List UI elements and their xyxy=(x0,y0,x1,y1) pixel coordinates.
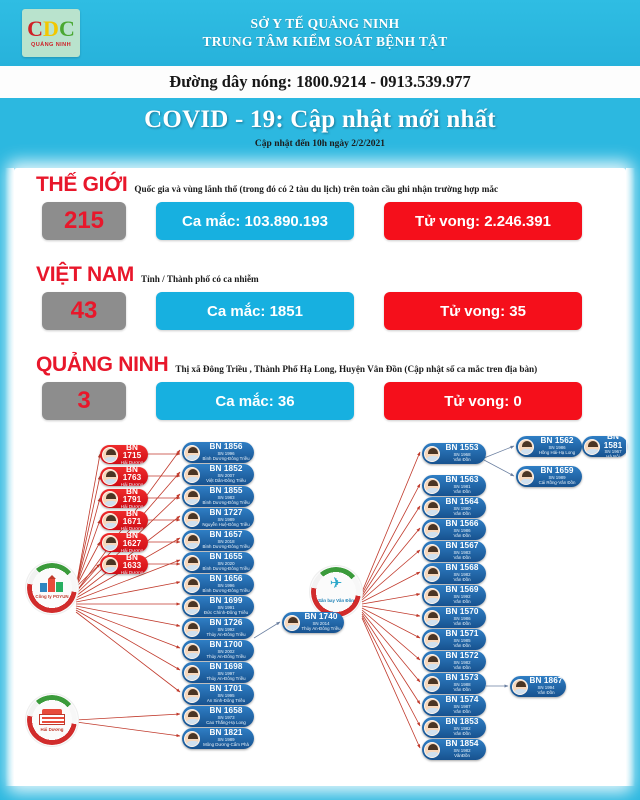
cases-badge-vietnam: Ca mắc: 1851 xyxy=(156,292,354,330)
node-place-label: Cái Rồng-Vân Đồn xyxy=(535,481,579,485)
node-place-label: Vân Đồn xyxy=(529,691,563,695)
node-place-label: Vân Đồn xyxy=(441,622,483,626)
node-bn-1659[interactable]: BN 1659SN 1989Cái Rồng-Vân Đồn xyxy=(516,466,582,487)
node-bn-label: BN 1627 xyxy=(119,533,145,548)
node-bn-1700[interactable]: BN 1700SN 2002Thủy An-Đông Triều xyxy=(182,640,254,661)
node-place-label: Vân Đồn xyxy=(441,710,483,714)
hotline-bar: Đường dây nóng: 1800.9214 - 0913.539.977 xyxy=(0,66,640,98)
stat-block-world: THẾ GIỚI Quốc gia và vùng lãnh thổ (tron… xyxy=(14,174,626,240)
node-place-label: Bình Dương-Đông Triều xyxy=(201,457,251,461)
deaths-badge-world: Tử vong: 2.246.391 xyxy=(384,202,582,240)
node-bn-1570[interactable]: BN 1570SN 1986Vân Đồn xyxy=(422,607,486,628)
patient-avatar-icon xyxy=(102,557,118,573)
node-place-label: Vân Đồn xyxy=(441,644,483,648)
patient-avatar-icon xyxy=(184,489,200,505)
node-bn-label: BN 1671 xyxy=(119,511,145,526)
source-airport-label: Sân bay Vân Đồn xyxy=(318,593,354,608)
node-bn-label: BN 1633 xyxy=(119,555,145,570)
patient-avatar-icon xyxy=(512,679,528,695)
patient-avatar-icon xyxy=(184,445,200,461)
node-bn-1854[interactable]: BN 1854SN 1982VânĐồn xyxy=(422,739,486,760)
node-bn-label: BN 1791 xyxy=(119,489,145,504)
node-place-label: Vân Đồn xyxy=(441,666,483,670)
node-bn-1821[interactable]: BN 1821SN 1989Mông Dương-Cẩm Phả xyxy=(182,728,254,749)
patient-avatar-icon xyxy=(184,665,200,681)
logo-letter-c1: C xyxy=(27,16,43,41)
node-place-label: Thủy An-Đông Triều xyxy=(201,677,251,681)
patient-avatar-icon xyxy=(102,469,118,485)
cdc-logo: CDC QUẢNG NINH xyxy=(22,9,80,57)
node-bn-1658[interactable]: BN 1658SN 1973Cao Thắng-Hạ Long xyxy=(182,706,254,727)
node-bn-1671[interactable]: BN 1671Hải Dương xyxy=(100,511,148,530)
node-bn-1633[interactable]: BN 1633Hải Dương xyxy=(100,555,148,574)
patient-avatar-icon xyxy=(424,720,440,736)
node-place-label: Hải Dương xyxy=(119,483,145,486)
badges-world: 215 Ca mắc: 103.890.193 Tử vong: 2.246.3… xyxy=(14,202,626,240)
patient-avatar-icon xyxy=(424,610,440,626)
cases-badge-quangninh: Ca mắc: 36 xyxy=(156,382,354,420)
node-bn-1563[interactable]: BN 1563SN 1981Vân Đồn xyxy=(422,475,486,496)
patient-avatar-icon xyxy=(184,511,200,527)
node-place-label: Thủy An-Đông Triều xyxy=(201,655,251,659)
infographic-page: CDC QUẢNG NINH SỞ Y TẾ QUẢNG NINH TRUNG … xyxy=(0,0,640,800)
region-name-quangninh: QUẢNG NINH xyxy=(36,354,168,375)
badges-quangninh: 3 Ca mắc: 36 Tử vong: 0 xyxy=(14,382,626,420)
patient-avatar-icon xyxy=(184,599,200,615)
node-bn-1698[interactable]: BN 1698SN 1997Thủy An-Đông Triều xyxy=(182,662,254,683)
source-poyun-label: Công ty POYUN xyxy=(35,594,68,599)
patient-avatar-icon xyxy=(584,439,600,455)
node-place-label: VânĐồn xyxy=(441,754,483,758)
node-bn-1856[interactable]: BN 1856SN 1996Bình Dương-Đông Triều xyxy=(182,442,254,463)
node-place-label: An Sinh-Đông Triều xyxy=(201,699,251,703)
stat-block-quangninh: QUẢNG NINH Thị xã Đông Triều , Thành Phố… xyxy=(14,354,626,420)
title-band: COVID - 19: Cập nhật mới nhất Cập nhật đ… xyxy=(0,98,640,157)
airplane-icon: ✈ xyxy=(330,576,343,591)
content-panel: THẾ GIỚI Quốc gia và vùng lãnh thổ (tron… xyxy=(14,168,626,786)
page-subtitle: Cập nhật đến 10h ngày 2/2/2021 xyxy=(255,139,385,149)
logo-letter-c2: C xyxy=(59,16,75,41)
org-line-2: TRUNG TÂM KIỂM SOÁT BỆNH TẬT xyxy=(80,33,570,51)
stat-block-vietnam: VIỆT NAM Tỉnh / Thành phố có ca nhiễm 43… xyxy=(14,264,626,330)
patient-avatar-icon xyxy=(518,439,534,455)
badges-vietnam: 43 Ca mắc: 1851 Tử vong: 35 xyxy=(14,292,626,330)
node-place-label: Hải Dương xyxy=(119,505,145,508)
node-bn-1571[interactable]: BN 1571SN 1985Vân Đồn xyxy=(422,629,486,650)
node-place-label: Thủy An-Đông Triều xyxy=(201,633,251,637)
node-bn-1564[interactable]: BN 1564SN 1980Vân Đồn xyxy=(422,497,486,518)
patient-avatar-icon xyxy=(184,621,200,637)
region-name-vietnam: VIỆT NAM xyxy=(36,264,134,285)
patient-avatar-icon xyxy=(102,513,118,529)
node-bn-1574[interactable]: BN 1574SN 1987Vân Đồn xyxy=(422,695,486,716)
node-place-label: Bình Dương-Đông Triều xyxy=(201,589,251,593)
node-bn-1627[interactable]: BN 1627Hải Dương xyxy=(100,533,148,552)
source-haiduong: Hải Dương xyxy=(26,694,78,746)
deaths-badge-vietnam: Tử vong: 35 xyxy=(384,292,582,330)
node-bn-1726[interactable]: BN 1726SN 1992Thủy An-Đông Triều xyxy=(182,618,254,639)
node-bn-1727[interactable]: BN 1727SN 1989Nguyễn Huệ-Đông Triều xyxy=(182,508,254,529)
patient-avatar-icon xyxy=(184,577,200,593)
node-place-label: Hải Dương xyxy=(119,461,145,464)
node-place-label: Bình Dương-Đông Triều xyxy=(201,567,251,571)
node-place-label: Bình Dương-Đông Triều xyxy=(201,501,251,505)
node-place-label: Bình Dương-Đông Triều xyxy=(201,545,251,549)
patient-avatar-icon xyxy=(102,535,118,551)
node-bn-1572[interactable]: BN 1572SN 1982Vân Đồn xyxy=(422,651,486,672)
node-bn-1715[interactable]: BN 1715Hải Dương xyxy=(100,445,148,464)
page-title: COVID - 19: Cập nhật mới nhất xyxy=(144,106,496,134)
patient-avatar-icon xyxy=(518,469,534,485)
node-bn-1699[interactable]: BN 1699SN 1991Đức Chính-Đông Triều xyxy=(182,596,254,617)
patient-avatar-icon xyxy=(184,643,200,659)
patient-avatar-icon xyxy=(424,478,440,494)
node-bn-1553[interactable]: BN 1553SN 1968Vân Đồn xyxy=(422,443,486,464)
node-bn-label: BN 1581 xyxy=(601,436,625,450)
patient-avatar-icon xyxy=(184,533,200,549)
patient-avatar-icon xyxy=(184,731,200,747)
node-place-label: Cao Thắng-Hạ Long xyxy=(201,721,251,725)
node-bn-label: BN 1763 xyxy=(119,467,145,482)
node-bn-1655[interactable]: BN 1655SN 2020Bình Dương-Đông Triều xyxy=(182,552,254,573)
country-count-world: 215 xyxy=(42,202,126,240)
source-poyun: Công ty POYUN xyxy=(26,562,78,614)
node-place-label: Hồng Hải-Hạ Long xyxy=(535,451,579,455)
hotline-text: Đường dây nóng: 1800.9214 - 0913.539.977 xyxy=(169,72,470,92)
node-bn-1562[interactable]: BN 1562SN 1986Hồng Hải-Hạ Long xyxy=(516,436,582,457)
patient-avatar-icon xyxy=(424,544,440,560)
patient-avatar-icon xyxy=(424,446,440,462)
logo-letter-d: D xyxy=(43,16,59,41)
patient-avatar-icon xyxy=(184,555,200,571)
node-place-label: Đức Chính-Đông Triều xyxy=(201,611,251,615)
org-line-1: SỞ Y TẾ QUẢNG NINH xyxy=(80,15,570,33)
patient-avatar-icon xyxy=(424,522,440,538)
node-bn-label: BN 1715 xyxy=(119,445,145,460)
region-row-vietnam: VIỆT NAM Tỉnh / Thành phố có ca nhiễm xyxy=(14,264,626,285)
patient-avatar-icon xyxy=(424,500,440,516)
node-place-label: Nguyễn Huệ-Đông Triều xyxy=(201,523,251,527)
node-place-label: Vân Đồn xyxy=(441,556,483,560)
organization-title: SỞ Y TẾ QUẢNG NINH TRUNG TÂM KIỂM SOÁT B… xyxy=(80,15,640,51)
node-place-label: Hải Dương xyxy=(119,527,145,530)
source-haiduong-label: Hải Dương xyxy=(41,727,64,732)
deaths-badge-quangninh: Tử vong: 0 xyxy=(384,382,582,420)
node-bn-1567[interactable]: BN 1567SN 1983Vân Đồn xyxy=(422,541,486,562)
node-bn-1763[interactable]: BN 1763Hải Dương xyxy=(100,467,148,486)
region-desc-vietnam: Tỉnh / Thành phố có ca nhiễm xyxy=(141,274,259,285)
node-place-label: Vân Đồn xyxy=(441,490,483,494)
node-place-label: Hải Dương xyxy=(119,549,145,552)
header-bar: CDC QUẢNG NINH SỞ Y TẾ QUẢNG NINH TRUNG … xyxy=(0,0,640,66)
province-count-vietnam: 43 xyxy=(42,292,126,330)
node-place-label: Vân Đồn xyxy=(441,732,483,736)
node-bn-1867[interactable]: BN 1867SN 1994Vân Đồn xyxy=(510,676,566,697)
region-row-quangninh: QUẢNG NINH Thị xã Đông Triều , Thành Phố… xyxy=(14,354,626,375)
node-bn-1656[interactable]: BN 1656SN 1996Bình Dương-Đông Triều xyxy=(182,574,254,595)
region-desc-quangninh: Thị xã Đông Triều , Thành Phố Hạ Long, H… xyxy=(175,364,537,375)
source-airport: ✈ Sân bay Vân Đồn xyxy=(310,566,362,618)
node-bn-1791[interactable]: BN 1791Hải Dương xyxy=(100,489,148,508)
node-bn-1573[interactable]: BN 1573SN 1988Vân Đồn xyxy=(422,673,486,694)
patient-avatar-icon xyxy=(424,742,440,758)
building-icon xyxy=(39,709,65,725)
node-place-label: Việt Dân-Đông Triều xyxy=(201,479,251,483)
patient-avatar-icon xyxy=(184,687,200,703)
node-bn-1853[interactable]: BN 1853SN 1982Vân Đồn xyxy=(422,717,486,738)
node-place-label: Vân Đồn xyxy=(441,458,483,462)
node-bn-1566[interactable]: BN 1566SN 1986Vân Đồn xyxy=(422,519,486,540)
region-desc-world: Quốc gia và vùng lãnh thổ (trong đó có 2… xyxy=(134,184,498,195)
node-place-label: Thủy An-Đông Triều xyxy=(301,627,341,631)
patient-avatar-icon xyxy=(184,709,200,725)
node-place-label: Mông Dương-Cẩm Phả xyxy=(201,743,251,747)
node-bn-1740[interactable]: BN 1740SN 2014Thủy An-Đông Triều xyxy=(282,612,344,633)
node-place-label: Vân Đồn xyxy=(441,578,483,582)
patient-avatar-icon xyxy=(424,632,440,648)
node-bn-1855[interactable]: BN 1855SN 1983Bình Dương-Đông Triều xyxy=(182,486,254,507)
region-row-world: THẾ GIỚI Quốc gia và vùng lãnh thổ (tron… xyxy=(14,174,626,195)
patient-avatar-icon xyxy=(424,654,440,670)
node-place-label: Vân Đồn xyxy=(441,688,483,692)
patient-avatar-icon xyxy=(184,467,200,483)
patient-avatar-icon xyxy=(424,698,440,714)
locality-count-quangninh: 3 xyxy=(42,382,126,420)
patient-avatar-icon xyxy=(102,447,118,463)
node-bn-1569[interactable]: BN 1569SN 1992Vân Đồn xyxy=(422,585,486,606)
node-place-label: Vân Đồn xyxy=(441,600,483,604)
node-bn-1657[interactable]: BN 1657SN 2018Bình Dương-Đông Triều xyxy=(182,530,254,551)
patient-avatar-icon xyxy=(284,615,300,631)
transmission-diagram: Công ty POYUN Hải Dương ✈ Sân bay Vân Đồ… xyxy=(14,442,626,786)
cdc-logo-letters: CDC xyxy=(27,18,75,40)
node-bn-1568[interactable]: BN 1568SN 1982Vân Đồn xyxy=(422,563,486,584)
node-place-label: Hải Dương xyxy=(119,571,145,574)
patient-avatar-icon xyxy=(424,676,440,692)
node-place-label: Vân Đồn xyxy=(441,534,483,538)
patient-avatar-icon xyxy=(102,491,118,507)
region-name-world: THẾ GIỚI xyxy=(36,174,127,195)
patient-avatar-icon xyxy=(424,588,440,604)
node-bn-1701[interactable]: BN 1701SN 1995An Sinh-Đông Triều xyxy=(182,684,254,705)
cases-badge-world: Ca mắc: 103.890.193 xyxy=(156,202,354,240)
node-place-label: Vân Đồn xyxy=(441,512,483,516)
node-bn-1852[interactable]: BN 1852SN 2007Việt Dân-Đông Triều xyxy=(182,464,254,485)
node-bn-1581[interactable]: BN 1581SN 1967Hà Nội xyxy=(582,436,628,457)
factory-icon xyxy=(40,577,64,592)
patient-avatar-icon xyxy=(424,566,440,582)
cdc-logo-subtitle: QUẢNG NINH xyxy=(31,42,71,48)
